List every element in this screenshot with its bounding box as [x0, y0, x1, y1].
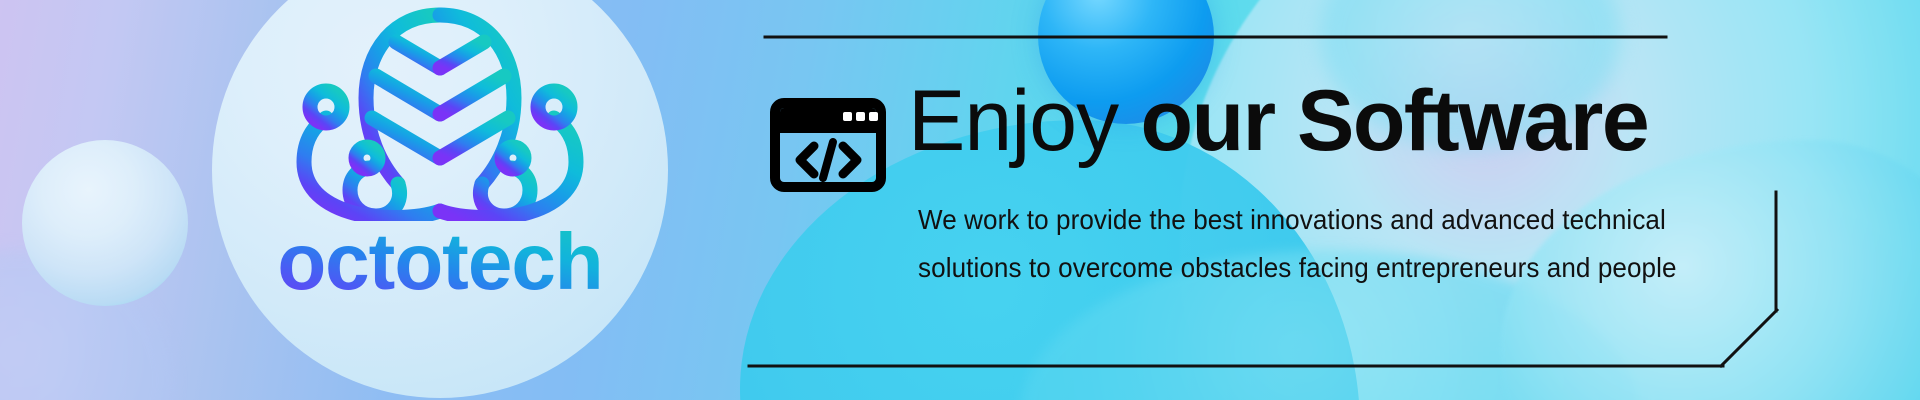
background-sphere-left — [22, 140, 188, 306]
subtitle: We work to provide the best innovations … — [918, 196, 1677, 292]
headline-light-part: Enjoy — [908, 73, 1118, 169]
promo-banner: octotech — [0, 0, 1920, 400]
code-window-icon — [770, 98, 886, 192]
brand-wordmark-text: octotech — [277, 223, 602, 306]
subtitle-line-2: solutions to overcome obstacles facing e… — [918, 244, 1677, 292]
subtitle-line-1: We work to provide the best innovations … — [918, 196, 1677, 244]
octopus-tree-logo-icon — [268, 6, 612, 221]
brand-logo[interactable]: octotech — [268, 6, 612, 306]
headline: Enjoy our Software — [908, 78, 1648, 164]
brand-wordmark: octotech — [268, 223, 612, 309]
headline-bold-part: our Software — [1118, 73, 1648, 169]
